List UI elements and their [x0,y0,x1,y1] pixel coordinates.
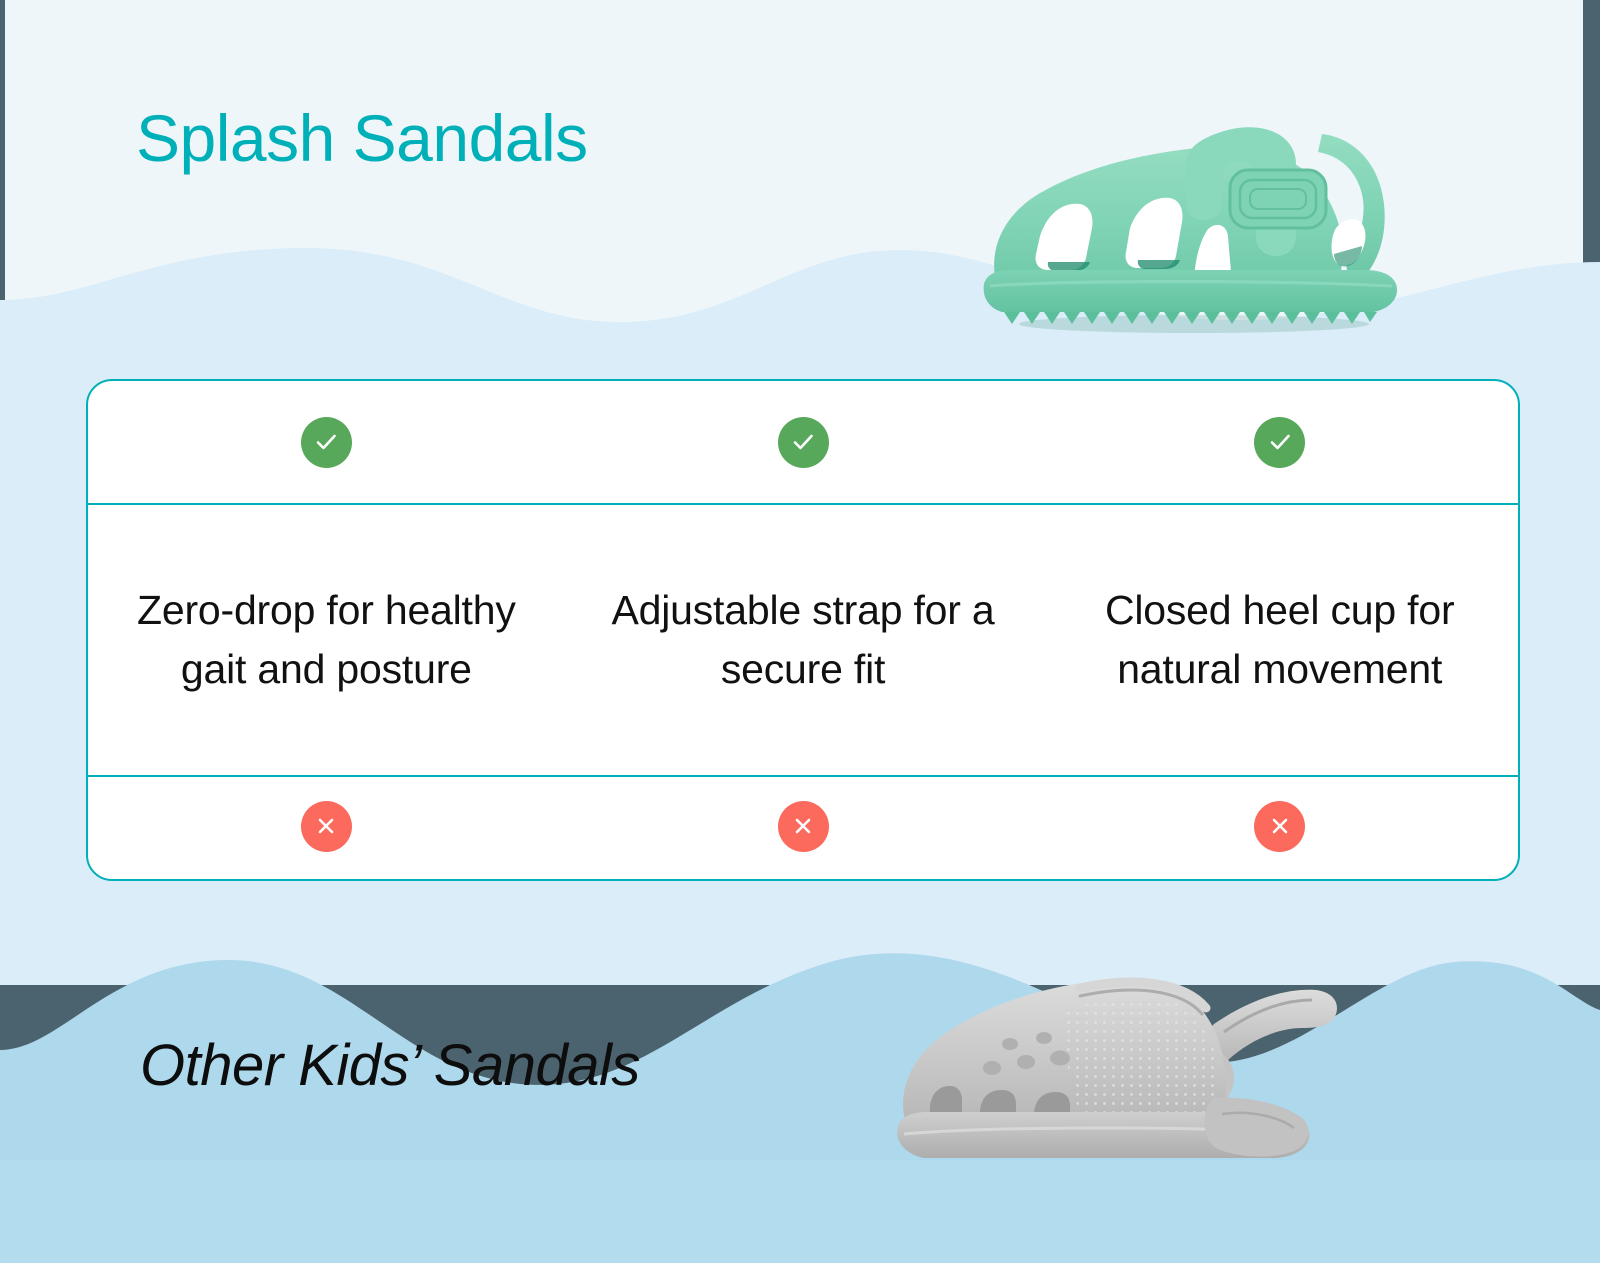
cross-circle-icon [301,801,352,852]
other-kids-sandal-product-image [884,928,1374,1168]
page-title-other-kids-sandals: Other Kids’ Sandals [140,1036,640,1097]
check-circle-icon [1254,417,1305,468]
feature-cell-2: Adjustable strap for a secure fit [565,505,1042,775]
grey-clog-illustration [884,928,1374,1168]
bottom-solid-band [0,1160,1600,1263]
feature-cell-1: Zero-drop for healthy gait and posture [88,505,565,775]
splash-sandal-product-image [944,86,1444,336]
feature-label-1: Zero-drop for healthy gait and posture [88,581,565,700]
feature-label-3: Closed heel cup for natural movement [1041,581,1518,700]
feature-text-row: Zero-drop for healthy gait and posture A… [88,503,1518,777]
cross-circle-icon [1254,801,1305,852]
splash-status-row [88,381,1518,503]
page-title-splash-sandals: Splash Sandals [136,104,588,173]
splash-sandal-illustration [944,86,1444,336]
other-status-cell-2 [565,777,1042,875]
other-status-cell-1 [88,777,565,875]
cross-circle-icon [778,801,829,852]
splash-status-cell-3 [1041,381,1518,503]
check-circle-icon [778,417,829,468]
other-status-row [88,777,1518,875]
splash-status-cell-1 [88,381,565,503]
splash-status-cell-2 [565,381,1042,503]
other-status-cell-3 [1041,777,1518,875]
infographic-canvas: Splash Sandals [0,0,1600,1263]
feature-cell-3: Closed heel cup for natural movement [1041,505,1518,775]
comparison-card: Zero-drop for healthy gait and posture A… [86,379,1520,881]
feature-label-2: Adjustable strap for a secure fit [565,581,1042,700]
check-circle-icon [301,417,352,468]
